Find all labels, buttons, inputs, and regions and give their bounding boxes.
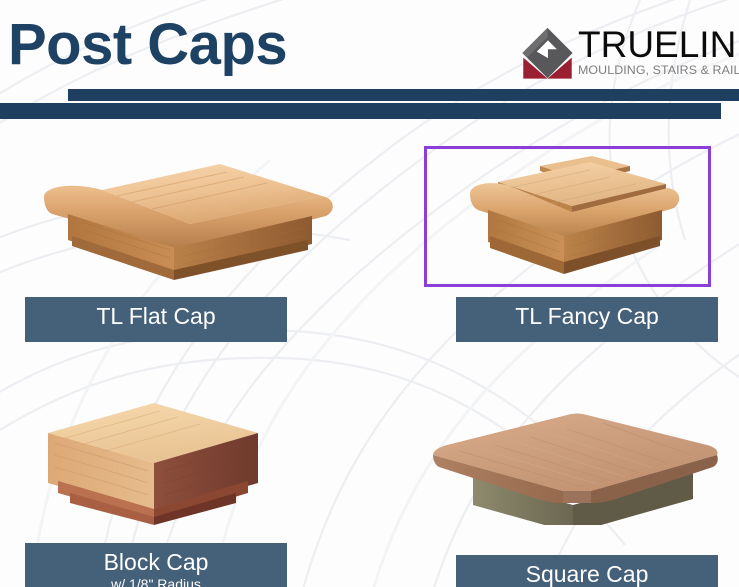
caption-block-cap[interactable]: Block Cap w/ 1/8" Radius (25, 543, 287, 587)
product-image-square-cap[interactable] (425, 405, 720, 525)
caption-title: Block Cap (104, 548, 209, 577)
caption-tl-fancy-cap[interactable]: TL Fancy Cap (456, 297, 718, 342)
product-image-tl-fancy-cap[interactable] (440, 150, 695, 285)
caption-title: TL Flat Cap (96, 302, 215, 331)
page-title: Post Caps (8, 12, 287, 79)
brand-logo: TRUELINE MOULDING, STAIRS & RAILING (519, 26, 739, 84)
brand-tagline: MOULDING, STAIRS & RAILING (578, 63, 739, 77)
header-rule-lower (0, 103, 721, 119)
caption-square-cap[interactable]: Square Cap (456, 555, 718, 587)
brand-name: TRUELINE (578, 27, 739, 62)
trueline-diamond-house-icon (519, 26, 576, 80)
caption-title: Square Cap (526, 560, 649, 587)
slide-canvas: Post Caps TRUELINE MOULDING, STAIRS & RA… (0, 0, 739, 587)
caption-subtitle: w/ 1/8" Radius (111, 576, 201, 587)
header-rule-upper (68, 89, 739, 101)
logo-wordmark: TRUELINE MOULDING, STAIRS & RAILING (578, 26, 739, 77)
caption-title: TL Fancy Cap (515, 302, 659, 331)
product-image-tl-flat-cap[interactable] (22, 152, 342, 287)
product-image-block-cap[interactable] (36, 395, 286, 525)
caption-tl-flat-cap[interactable]: TL Flat Cap (25, 297, 287, 342)
